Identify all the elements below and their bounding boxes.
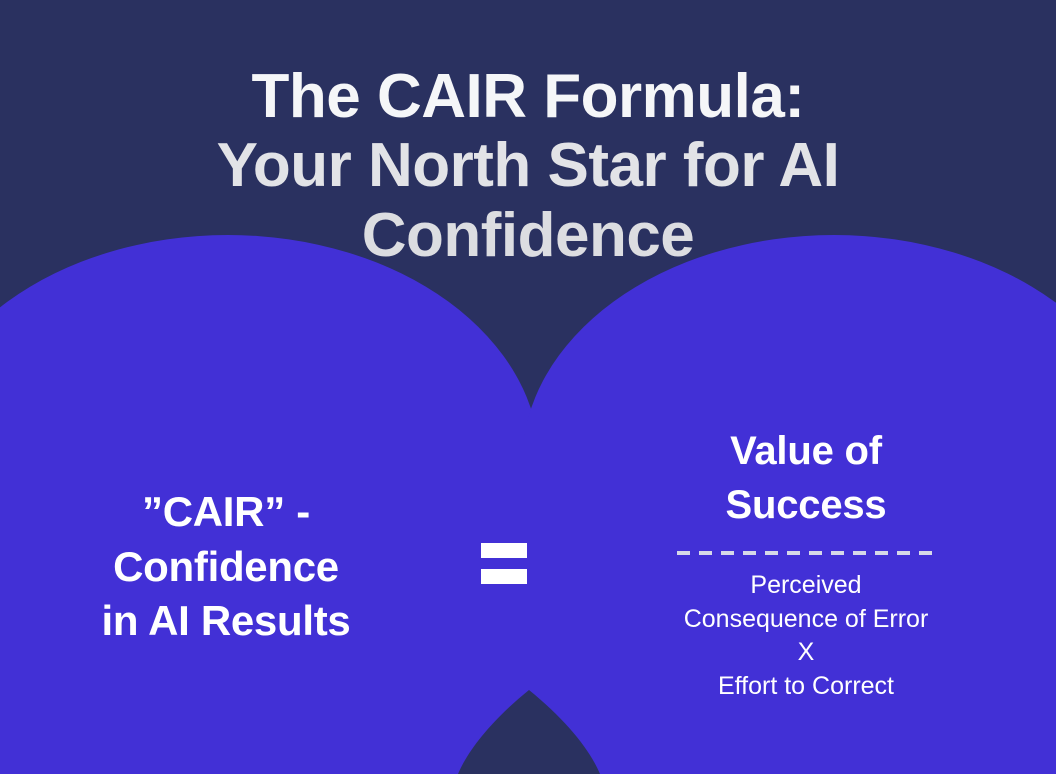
left-term-line-1: ”CAIR” - bbox=[0, 485, 452, 540]
denominator-line-3: X bbox=[556, 636, 1056, 670]
numerator-line-2: Success bbox=[556, 479, 1056, 533]
equals-bar-bottom bbox=[481, 569, 527, 584]
equals-sign-icon bbox=[452, 415, 556, 584]
title-line-2: Your North Star for AI bbox=[0, 131, 1056, 200]
formula-left-term: ”CAIR” - Confidence in AI Results bbox=[0, 415, 452, 649]
denominator-line-2: Consequence of Error bbox=[556, 603, 1056, 637]
title-line-3: Confidence bbox=[0, 201, 1056, 270]
page-title: The CAIR Formula: Your North Star for AI… bbox=[0, 62, 1056, 270]
formula-right-term: Value of Success Perceived Consequence o… bbox=[556, 415, 1056, 703]
equals-bar-top bbox=[481, 543, 527, 558]
fraction-divider-dashed bbox=[677, 551, 935, 555]
denominator-line-1: Perceived bbox=[556, 569, 1056, 603]
cair-formula: ”CAIR” - Confidence in AI Results Value … bbox=[0, 415, 1056, 725]
fraction-numerator: Value of Success bbox=[556, 425, 1056, 532]
fraction-denominator: Perceived Consequence of Error X Effort … bbox=[556, 569, 1056, 703]
slide-canvas: The CAIR Formula: Your North Star for AI… bbox=[0, 0, 1056, 774]
denominator-line-4: Effort to Correct bbox=[556, 670, 1056, 704]
title-line-1: The CAIR Formula: bbox=[0, 62, 1056, 131]
numerator-line-1: Value of bbox=[556, 425, 1056, 479]
left-term-line-3: in AI Results bbox=[0, 594, 452, 649]
left-term-line-2: Confidence bbox=[0, 540, 452, 595]
